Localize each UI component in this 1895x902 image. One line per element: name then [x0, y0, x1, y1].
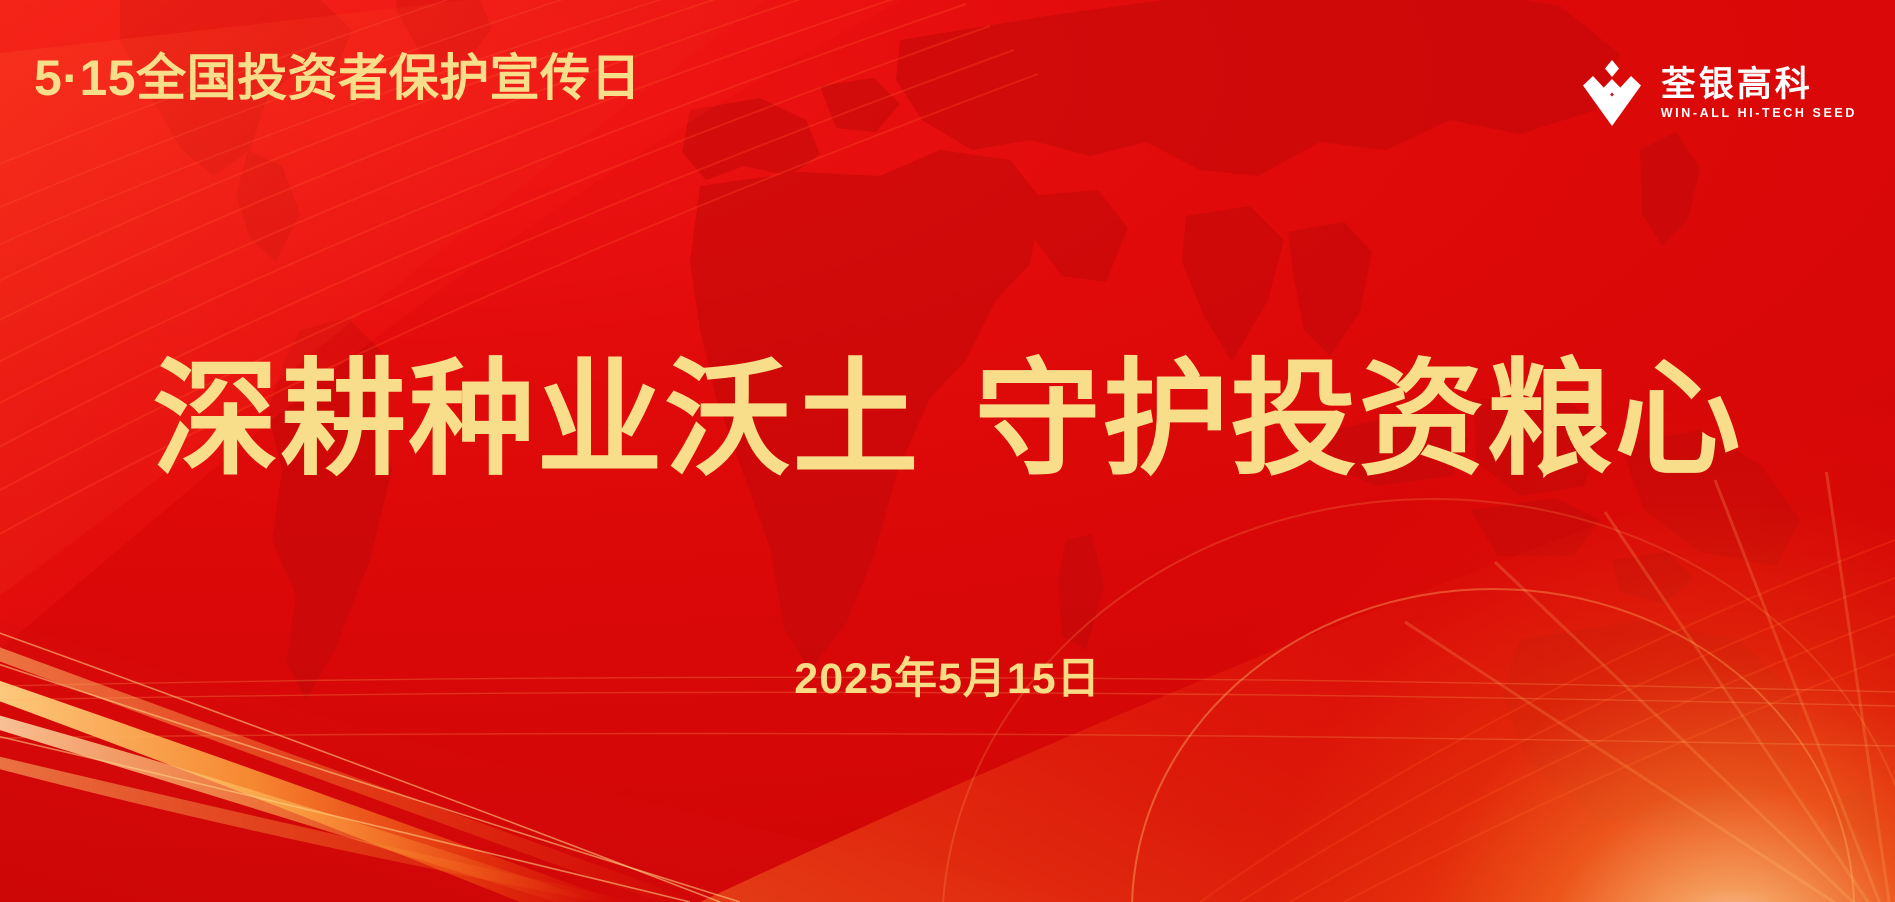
page-title: 深耕种业沃土守护投资粮心 — [0, 352, 1895, 488]
brand-logo-lockup: 荃银高科 WIN-ALL HI-TECH SEED — [1581, 58, 1857, 128]
brand-name-cn: 荃银高科 — [1661, 67, 1857, 102]
investor-protection-day-banner: 5·15全国投资者保护宣传日 荃银高科 WIN-ALL HI-TECH SEED… — [0, 0, 1895, 902]
headline-phrase-right: 守护投资粮心 — [975, 349, 1743, 490]
headline-phrase-left: 深耕种业沃土 — [153, 349, 921, 490]
campaign-eyebrow-text: 5·15全国投资者保护宣传日 — [34, 53, 641, 103]
brand-wordmark: 荃银高科 WIN-ALL HI-TECH SEED — [1661, 67, 1857, 120]
event-date: 2025年5月15日 — [0, 658, 1895, 701]
brand-name-en: WIN-ALL HI-TECH SEED — [1661, 107, 1857, 120]
winall-chevron-sprout-icon — [1581, 58, 1643, 128]
